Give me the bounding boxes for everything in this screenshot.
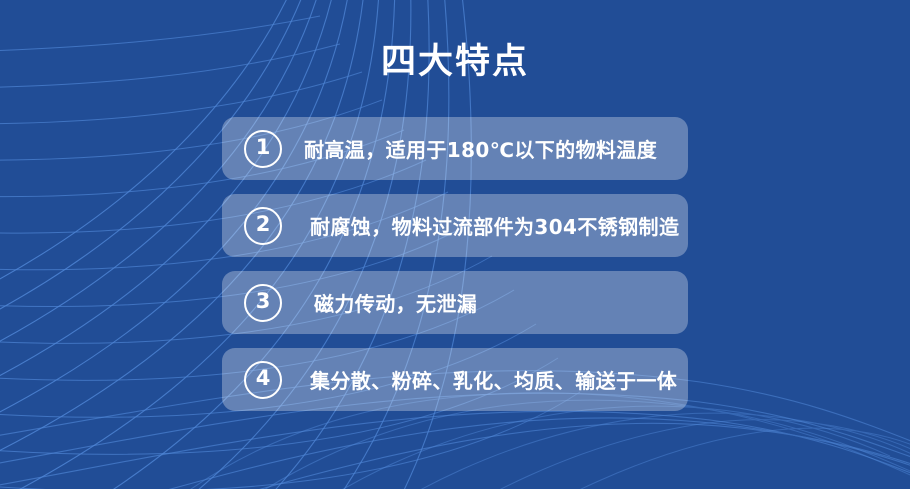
- feature-text: 磁力传动，无泄漏: [314, 288, 477, 317]
- number-badge-icon: 4: [244, 361, 282, 399]
- feature-card-1[interactable]: 1 耐高温，适用于180℃以下的物料温度: [222, 117, 688, 180]
- feature-card-2[interactable]: 2 耐腐蚀，物料过流部件为304不锈钢制造: [222, 194, 688, 257]
- badge-number: 1: [256, 137, 271, 158]
- number-badge-icon: 1: [244, 130, 282, 168]
- badge-number: 3: [256, 291, 271, 312]
- feature-list: 1 耐高温，适用于180℃以下的物料温度 2 耐腐蚀，物料过流部件为304不锈钢…: [222, 117, 688, 411]
- badge-number: 2: [256, 214, 271, 235]
- number-badge-icon: 3: [244, 284, 282, 322]
- feature-card-3[interactable]: 3 磁力传动，无泄漏: [222, 271, 688, 334]
- page-title: 四大特点: [0, 41, 910, 83]
- number-badge-icon: 2: [244, 207, 282, 245]
- feature-card-4[interactable]: 4 集分散、粉碎、乳化、均质、输送于一体: [222, 348, 688, 411]
- feature-slide: 四大特点 1 耐高温，适用于180℃以下的物料温度 2 耐腐蚀，物料过流部件为3…: [0, 0, 910, 489]
- feature-text: 集分散、粉碎、乳化、均质、输送于一体: [310, 365, 677, 394]
- badge-number: 4: [256, 368, 271, 389]
- feature-text: 耐高温，适用于180℃以下的物料温度: [304, 134, 657, 163]
- feature-text: 耐腐蚀，物料过流部件为304不锈钢制造: [310, 211, 679, 240]
